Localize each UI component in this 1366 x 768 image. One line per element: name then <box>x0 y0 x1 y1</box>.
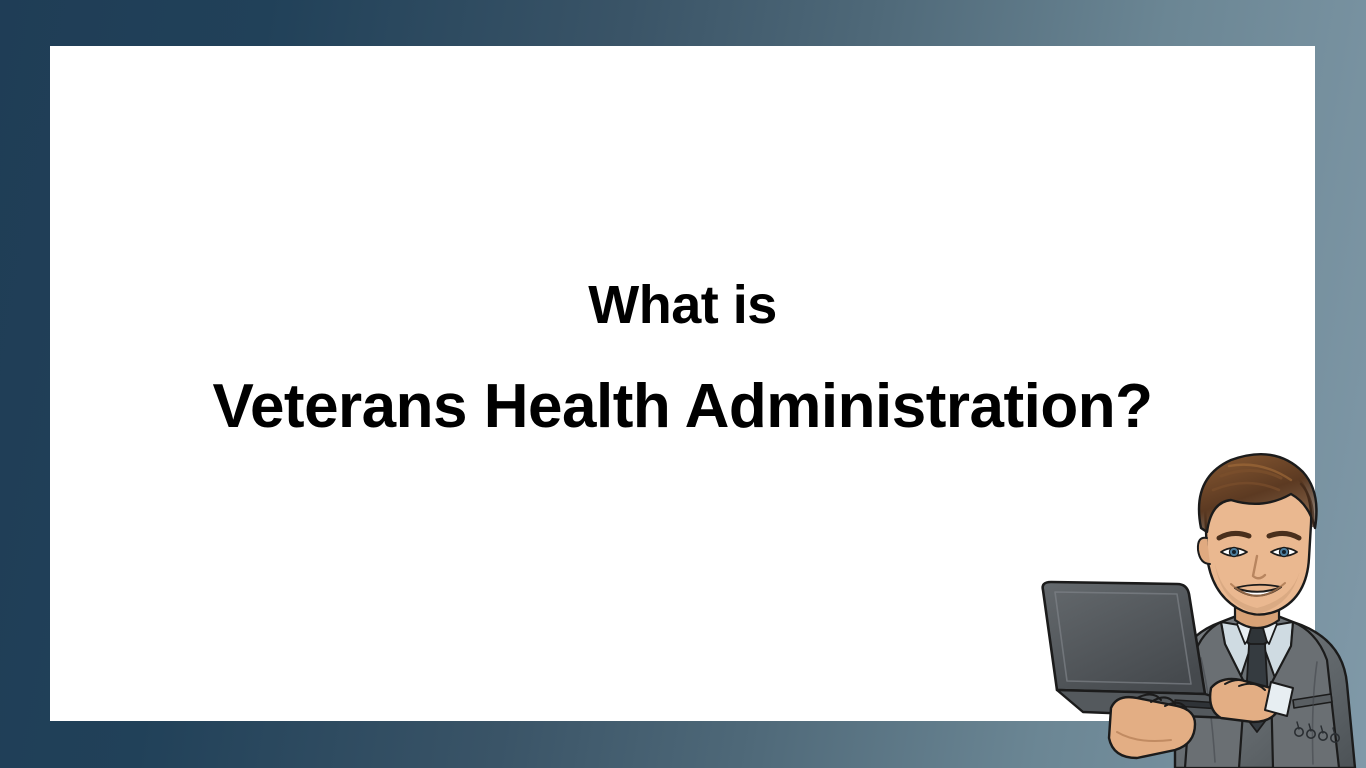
title-line-2: Veterans Health Administration? <box>50 376 1315 438</box>
slide-canvas: What is Veterans Health Administration? <box>0 0 1366 768</box>
title-line-1: What is <box>50 278 1315 332</box>
title-block: What is Veterans Health Administration? <box>50 46 1315 438</box>
content-panel: What is Veterans Health Administration? <box>50 46 1315 721</box>
